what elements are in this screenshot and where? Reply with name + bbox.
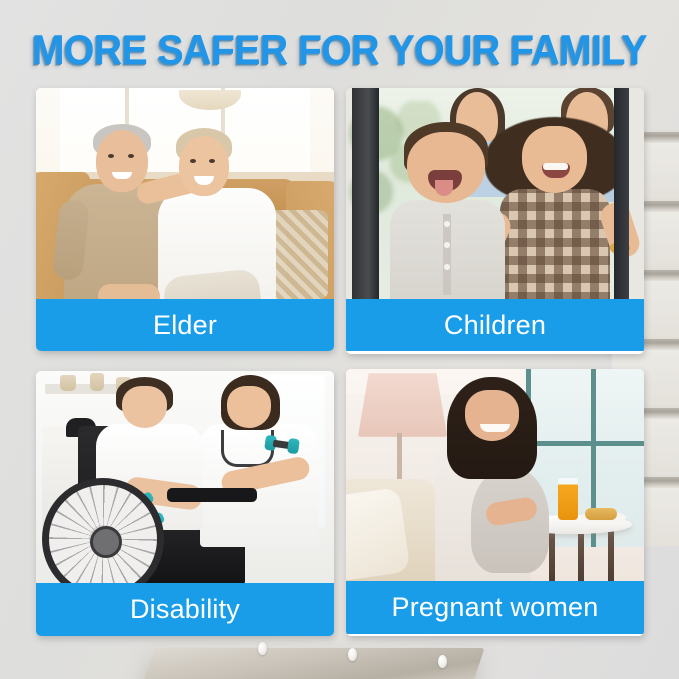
woman-eye-right	[209, 159, 215, 163]
wheelchair-armrest	[167, 488, 256, 503]
man-hands	[98, 284, 160, 299]
man-eye-right	[128, 154, 134, 158]
anti-slip-stud	[348, 648, 357, 661]
photo-disability	[36, 371, 334, 583]
woman-head	[465, 390, 519, 441]
pregnant-scene	[346, 369, 644, 581]
wheel-hub	[90, 526, 122, 558]
stone-step-slab	[142, 648, 485, 679]
girl-plaid-dress	[500, 189, 610, 299]
woman-smile	[480, 424, 510, 431]
card-label-children: Children	[346, 299, 644, 351]
table-leg	[608, 530, 614, 581]
man-smile	[112, 172, 132, 179]
table-leg	[578, 534, 584, 581]
girl-head	[522, 126, 587, 193]
anti-slip-stud	[438, 655, 447, 668]
woman-head	[179, 136, 229, 196]
woman-eye-left	[190, 159, 196, 163]
shelf-jar	[60, 375, 76, 391]
window-frame-horizontal	[525, 441, 644, 446]
orange-juice-glass	[558, 478, 578, 520]
child-boy	[388, 122, 507, 299]
patient-head	[122, 386, 167, 428]
woman-smile	[194, 176, 214, 185]
door-frame-right	[614, 88, 629, 299]
man-head	[96, 130, 148, 192]
card-grid: Elder	[36, 88, 646, 636]
card-label-pregnant-women: Pregnant women	[346, 581, 644, 634]
disability-scene	[36, 371, 334, 583]
photo-children	[346, 88, 644, 299]
poster-canvas: MORE SAFER FOR YOUR FAMILY	[0, 0, 679, 679]
anti-slip-stud	[258, 642, 267, 655]
door-frame-left	[352, 88, 379, 299]
card-children[interactable]: Children	[346, 88, 644, 354]
elder-scene	[36, 88, 334, 299]
croissant	[585, 508, 617, 520]
boy-button	[444, 221, 450, 227]
boy-button	[444, 264, 450, 270]
man-eye-left	[108, 154, 114, 158]
girl-teeth	[543, 163, 568, 169]
table-leg	[549, 530, 555, 581]
children-scene	[346, 88, 644, 299]
photo-elder	[36, 88, 334, 299]
card-label-disability: Disability	[36, 583, 334, 636]
card-disability[interactable]: Disability	[36, 371, 334, 636]
child-girl	[492, 113, 617, 299]
page-title: MORE SAFER FOR YOUR FAMILY	[24, 26, 655, 74]
shelf-jar	[90, 373, 104, 391]
card-label-elder: Elder	[36, 299, 334, 351]
card-pregnant-women[interactable]: Pregnant women	[346, 369, 644, 636]
photo-pregnant-women	[346, 369, 644, 581]
floor-lamp-shade	[358, 373, 447, 437]
card-elder[interactable]: Elder	[36, 88, 334, 351]
